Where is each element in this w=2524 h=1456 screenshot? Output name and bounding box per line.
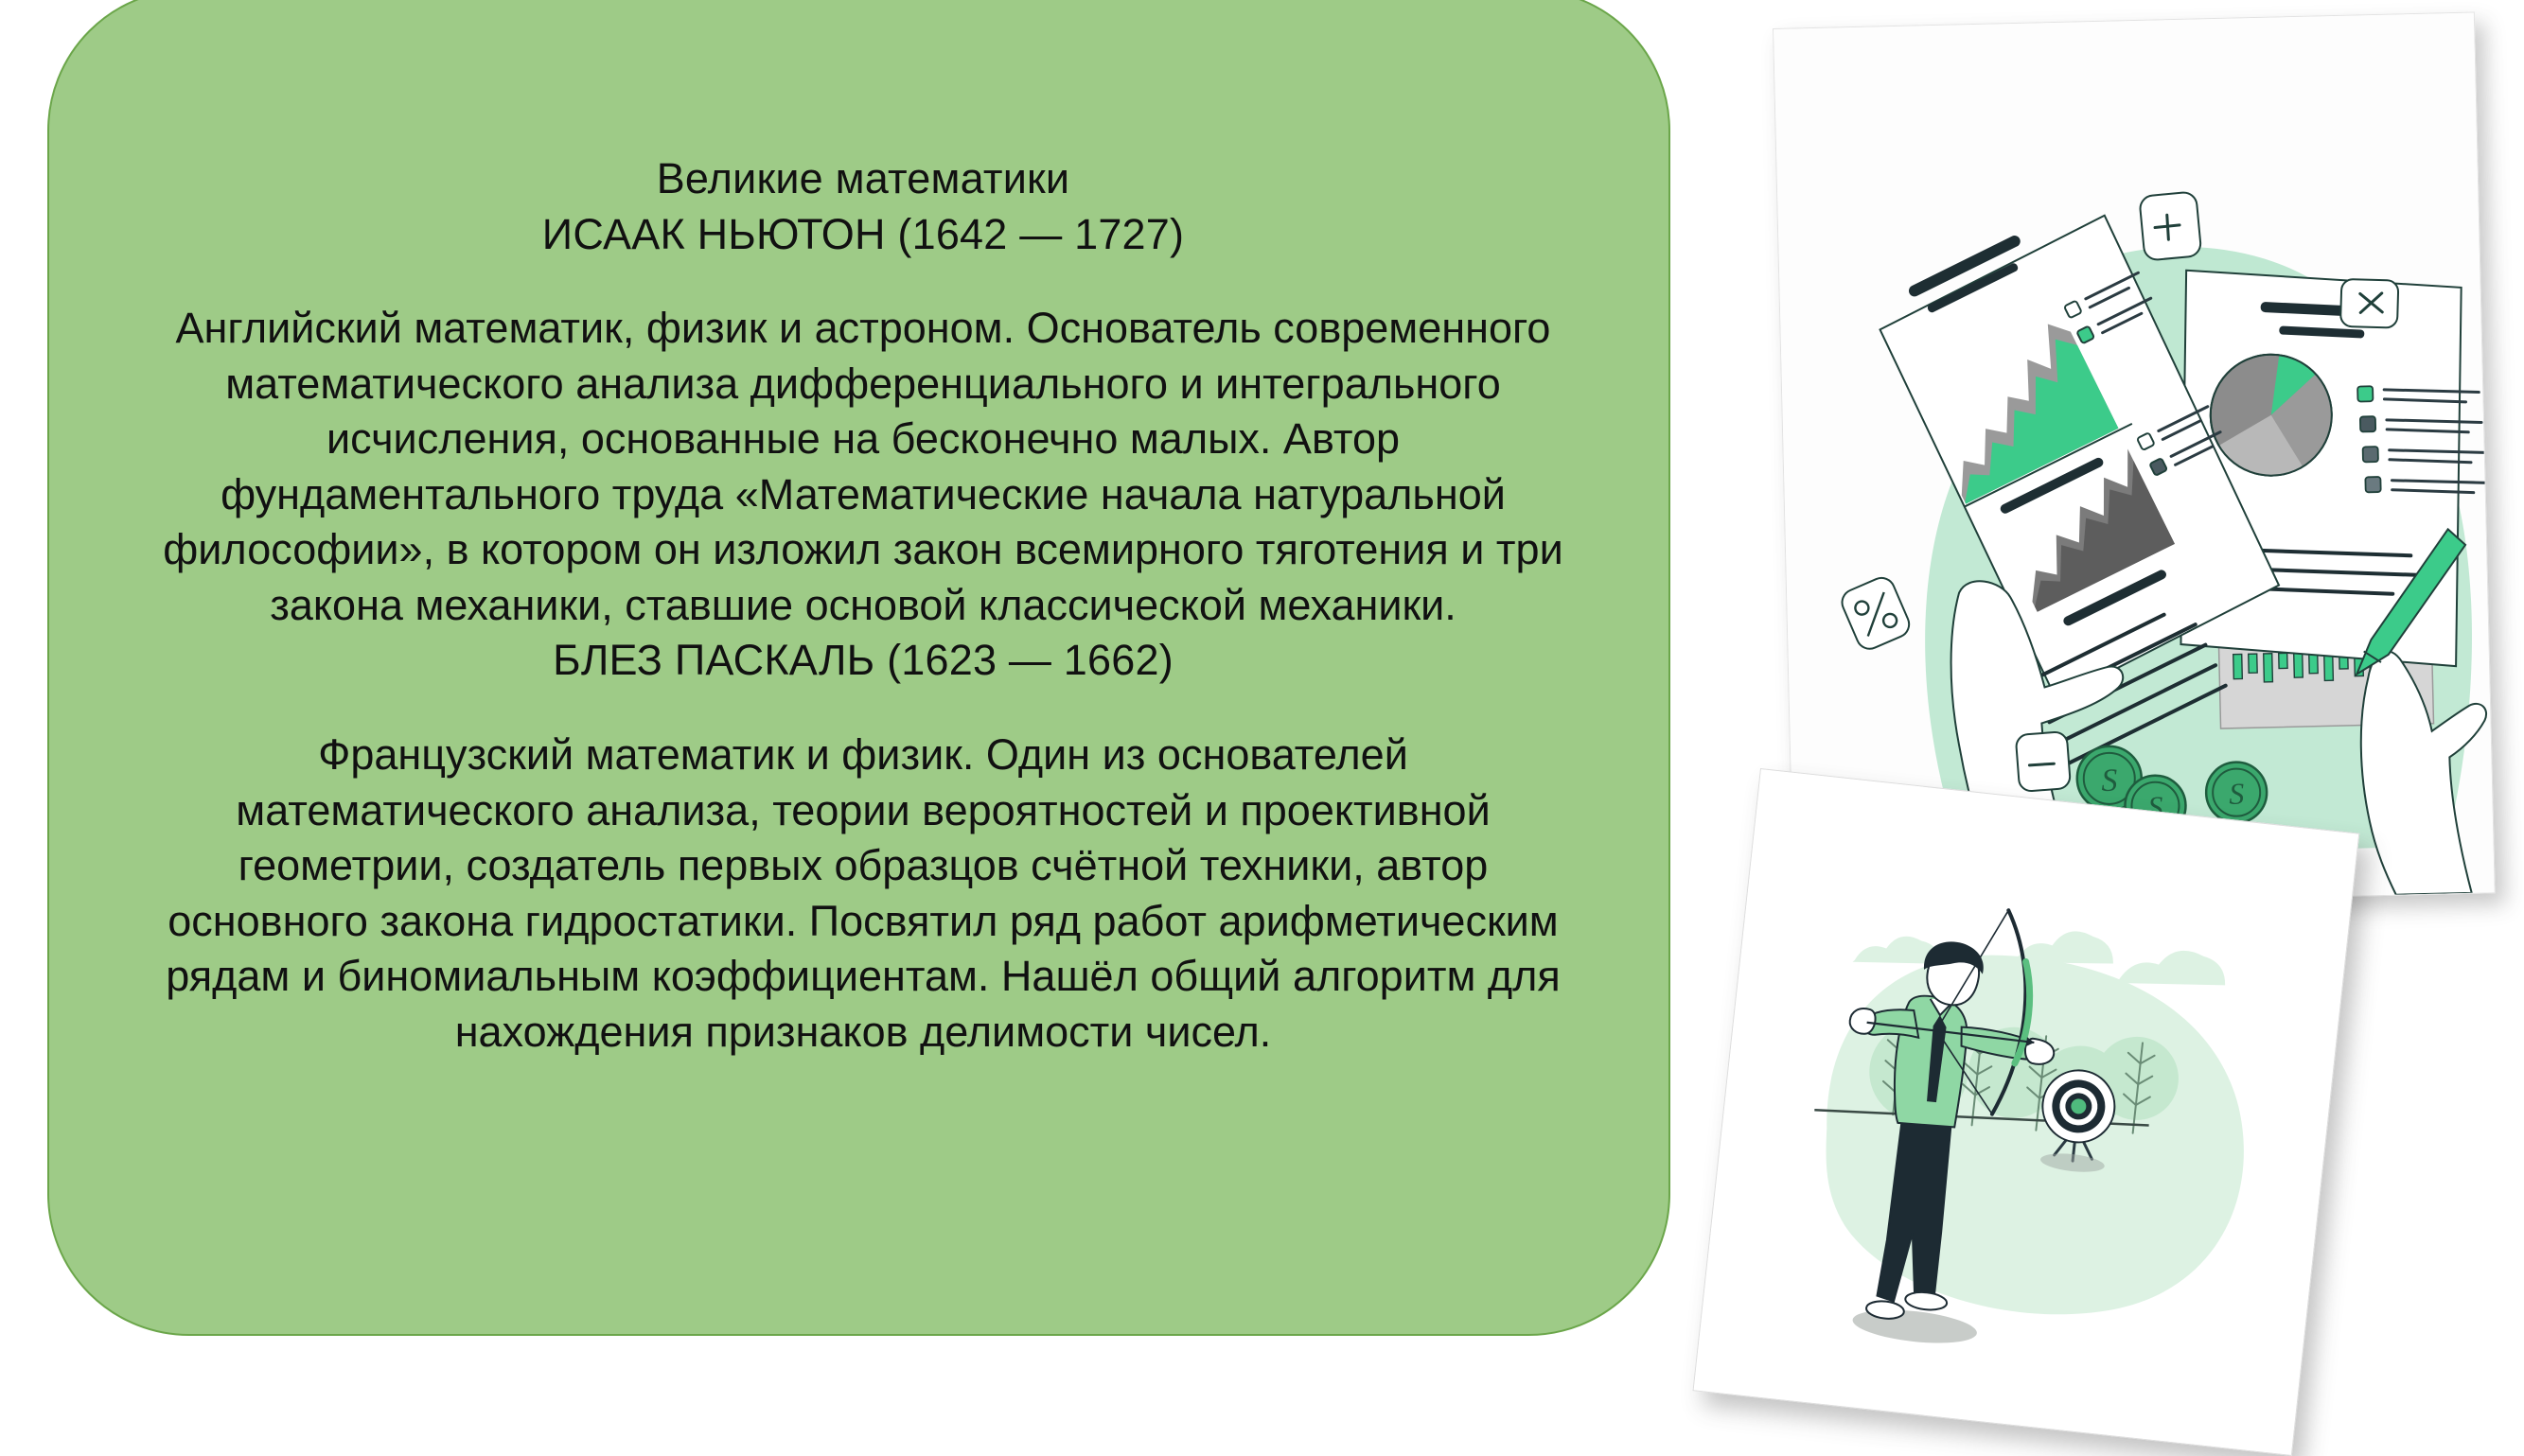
documents-illustration-card: S S S <box>1773 12 2496 910</box>
text-line-body: фундаментального труда «Математические н… <box>163 467 1563 523</box>
text-line-body: геометрии, создатель первых образцов счё… <box>163 838 1563 894</box>
text-line-body: математического анализа дифференциальног… <box>163 357 1563 412</box>
text-line-body: Французский математик и физик. Один из о… <box>163 728 1563 783</box>
text-line-body: рядам и биномиальным коэффициентам. Нашё… <box>163 949 1563 1005</box>
text-line-pascal: БЛЕЗ ПАСКАЛЬ (1623 — 1662) <box>163 633 1563 689</box>
green-content-panel: Великие математики ИСААК НЬЮТОН (1642 — … <box>47 0 1670 1336</box>
plus-badge-icon <box>2139 191 2201 261</box>
archer-illustration <box>1694 769 2359 1455</box>
slide-canvas: Великие математики ИСААК НЬЮТОН (1642 — … <box>0 0 2524 1419</box>
documents-illustration: S S S <box>1774 13 2495 909</box>
archer-illustration-card <box>1693 768 2360 1456</box>
text-line-body: исчисления, основанные на бесконечно мал… <box>163 412 1563 467</box>
text-line-body: философии», в котором он изложил закон в… <box>163 522 1563 578</box>
text-line-body: основного закона гидростатики. Посвятил … <box>163 894 1563 950</box>
minus-badge-icon <box>2016 731 2072 792</box>
text-line-spacer <box>163 262 1563 301</box>
text-block: Великие математики ИСААК НЬЮТОН (1642 — … <box>163 151 1563 1060</box>
close-badge-icon <box>2339 277 2400 329</box>
text-line-body: закона механики, ставшие основой классич… <box>163 578 1563 634</box>
text-line-body: нахождения признаков делимости чисел. <box>163 1005 1563 1061</box>
svg-text:S: S <box>2229 776 2245 810</box>
svg-text:S: S <box>2101 763 2118 798</box>
text-line-body: Английский математик, физик и астроном. … <box>163 301 1563 357</box>
text-line-body: математического анализа, теории вероятно… <box>163 783 1563 839</box>
text-line-title: Великие математики <box>163 151 1563 207</box>
text-line-spacer <box>163 689 1563 728</box>
text-line-newton: ИСААК НЬЮТОН (1642 — 1727) <box>163 207 1563 263</box>
